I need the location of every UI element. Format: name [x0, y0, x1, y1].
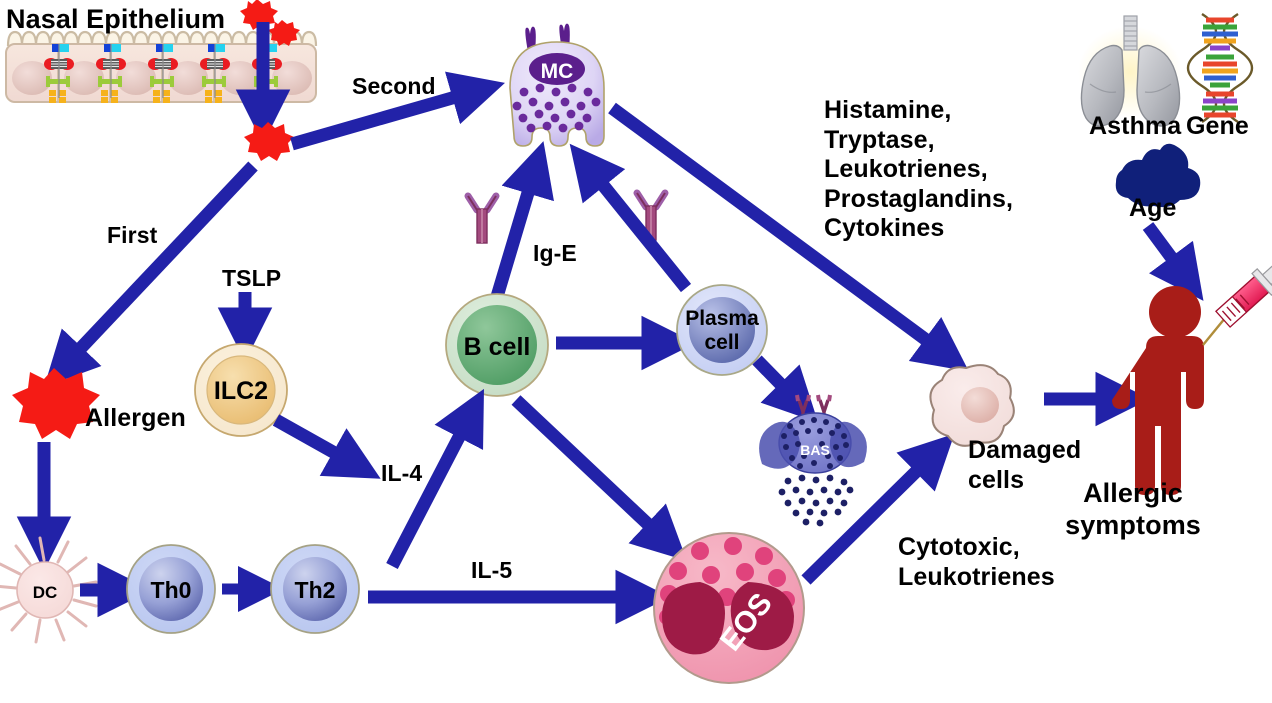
trachea — [1124, 16, 1137, 50]
arrow-ilc2-to-il4 — [276, 420, 358, 466]
mast-cell-label: MC — [541, 60, 574, 83]
page-title-nasal-epithelium: Nasal Epithelium — [6, 4, 225, 36]
allergen-subepithelial — [244, 122, 294, 161]
label-tslp: TSLP — [222, 265, 281, 292]
th0-label: Th0 — [151, 577, 192, 603]
lungs-icon — [1078, 16, 1182, 126]
arrow-bcell-to-mastcell — [496, 166, 536, 300]
label-cytotoxic: Cytotoxic, Leukotrienes — [898, 533, 1055, 592]
label-gene: Gene — [1186, 112, 1249, 142]
label-allergen: Allergen — [85, 404, 186, 434]
label-age: Age — [1129, 194, 1177, 224]
label-ige: Ig-E — [533, 240, 577, 267]
label-asthma: Asthma — [1089, 112, 1181, 142]
label-il4: IL-4 — [381, 460, 422, 487]
th2-cell: Th2 — [271, 545, 359, 633]
th0-cell: Th0 — [127, 545, 215, 633]
th2-label: Th2 — [295, 577, 336, 603]
arrow-age-to-human — [1148, 226, 1188, 280]
basophil-released-granules — [779, 475, 854, 527]
eosinophil-nucleus-lobe-1 — [662, 582, 725, 654]
dna-helix-icon — [1188, 14, 1252, 122]
arrow-bcell-to-eos — [516, 400, 668, 543]
b-cell: B cell — [446, 294, 548, 396]
label-il5: IL-5 — [471, 557, 512, 584]
eosinophil-cell: EOS — [654, 533, 804, 683]
plasma-cell-label-2: cell — [704, 331, 739, 354]
label-mediators: Histamine, Tryptase, Leukotrienes, Prost… — [824, 96, 1013, 244]
label-first: First — [107, 222, 157, 249]
dc-label: DC — [33, 583, 58, 602]
plasma-cell-label-1: Plasma — [685, 307, 759, 330]
label-allergic-symptoms: Allergic symptoms — [1065, 478, 1201, 542]
damaged-cell — [930, 365, 1013, 446]
ilc2-cell: ILC2 — [195, 344, 287, 436]
arrow-th2-to-bcell — [392, 412, 472, 566]
ige-antibody-left — [468, 196, 496, 243]
ilc2-label: ILC2 — [214, 377, 268, 405]
syringe-icon — [1203, 257, 1272, 345]
diagram-svg: MC ILC2 B cell — [0, 0, 1272, 703]
arrow-plasmacell-to-mastcell — [586, 164, 686, 288]
b-cell-label: B cell — [464, 333, 531, 361]
label-second: Second — [352, 73, 436, 100]
basophil-cell: BAS — [759, 395, 867, 526]
mast-cell-illustration: MC — [510, 24, 604, 146]
basophil-label: BAS — [800, 442, 830, 458]
plasma-cell: Plasma cell — [677, 285, 767, 375]
arrow-plasmacell-to-basophil — [757, 360, 800, 404]
person-icon — [1112, 286, 1204, 495]
diagram-canvas: MC ILC2 B cell — [0, 0, 1272, 703]
